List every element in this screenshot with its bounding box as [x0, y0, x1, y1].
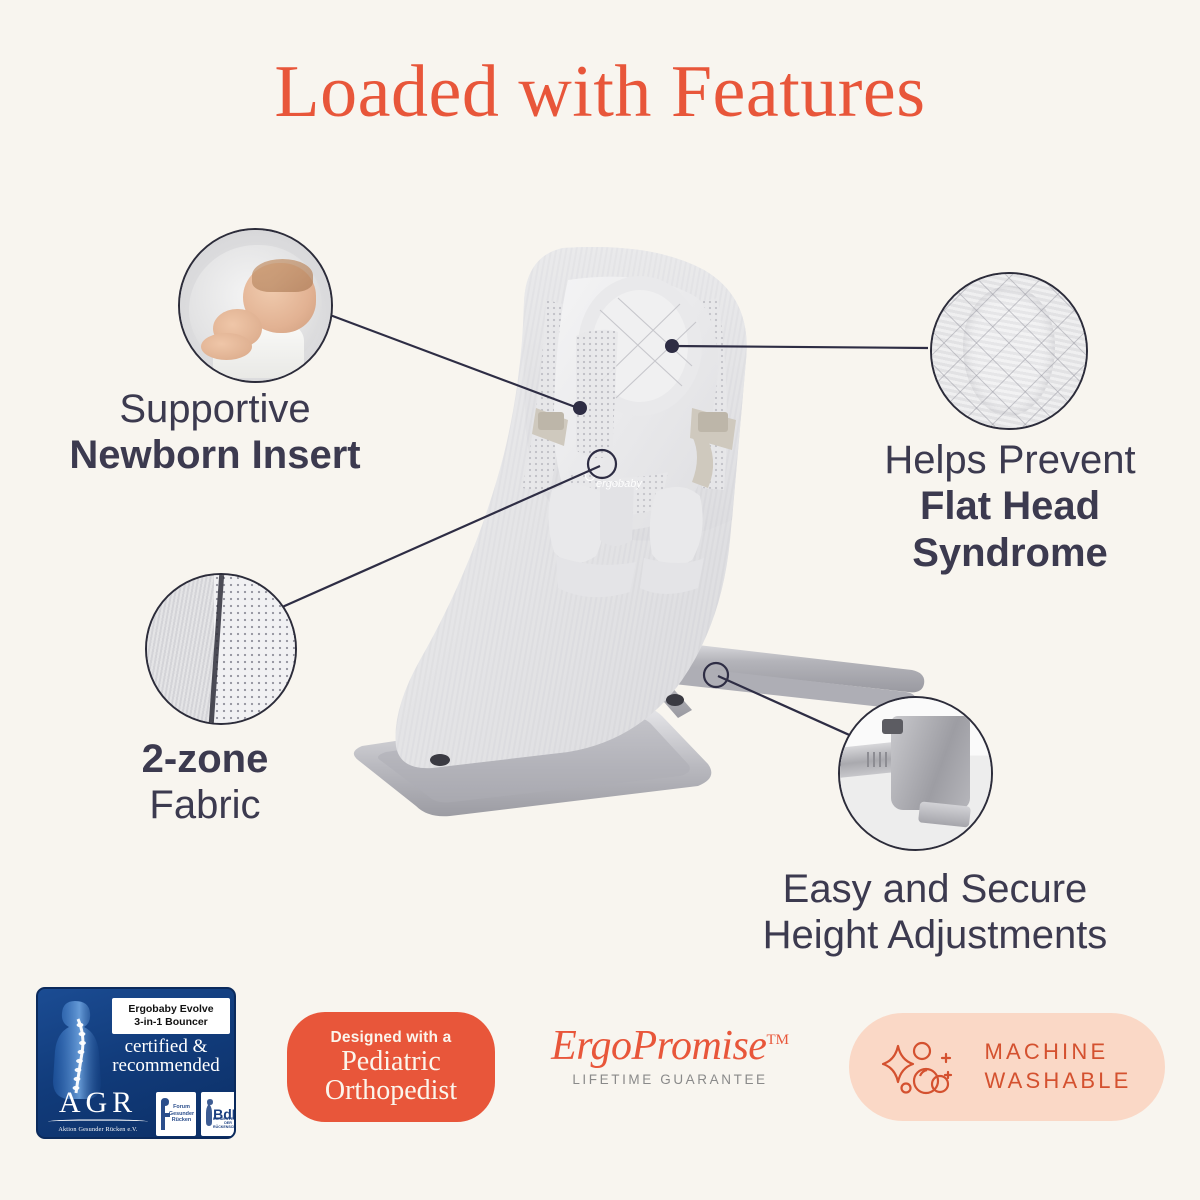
adjuster-release-tab	[882, 719, 903, 734]
agr-cert-line-2: recommended	[96, 1056, 236, 1075]
agr-logo-swoosh-icon	[48, 1119, 148, 1123]
feature-label-newborn-insert: Supportive Newborn Insert	[0, 386, 430, 479]
sparkle-bubbles-icon	[882, 1036, 968, 1098]
agr-logo-subtitle: Aktion Gesunder Rücken e.V.	[44, 1126, 152, 1133]
ergopromise-wordmark: ErgoPromise	[551, 1023, 766, 1069]
agr-cert-line-1: certified &	[96, 1037, 236, 1056]
page-title: Loaded with Features	[0, 55, 1200, 129]
badge-ergopromise: ErgoPromiseTM LIFETIME GUARANTEE	[530, 1025, 810, 1087]
badge-pediatric-orthopedist: Designed with a Pediatric Orthopedist	[287, 1012, 495, 1122]
baby-hair	[252, 259, 312, 292]
jersey-knit-zone	[147, 575, 217, 723]
certification-badges-row: Ergobaby Evolve 3-in-1 Bouncer certified…	[0, 985, 1200, 1155]
pediatric-badge-line-2: Orthopedist	[325, 1077, 457, 1106]
agr-product-line-2: 3-in-1 Bouncer	[134, 1016, 208, 1029]
forum-figure-icon	[159, 1097, 172, 1131]
feature-label-line-1: 2-zone	[15, 736, 395, 782]
feature-label-line-2: Height Adjustments	[700, 912, 1170, 958]
callout-quilted-insert	[930, 272, 1088, 430]
feature-label-line-3: Syndrome	[840, 530, 1180, 576]
frame-notches	[867, 752, 891, 767]
product-brand-mark: ergobaby	[596, 478, 643, 490]
agr-logo: AGR Aktion Gesunder Rücken e.V.	[44, 1089, 152, 1133]
callout-baby-in-newborn-insert	[178, 228, 333, 383]
pediatric-badge-line-1: Pediatric	[341, 1048, 441, 1077]
callout-height-adjuster	[838, 696, 993, 851]
feature-label-two-zone-fabric: 2-zone Fabric	[15, 736, 395, 829]
feature-label-line-2: Flat Head	[840, 483, 1180, 529]
agr-sublogo-bdr: BdR BUNDESVERBAND DER RÜCKENSCHULLEHRER	[201, 1092, 236, 1136]
feature-label-line-2: Newborn Insert	[0, 432, 430, 478]
badge-machine-washable: MACHINE WASHABLE	[849, 1013, 1165, 1121]
infographic-canvas: Loaded with Features	[0, 0, 1200, 1200]
callout-two-zone-fabric	[145, 573, 297, 725]
adjuster-block	[891, 716, 970, 810]
pediatric-badge-top-line: Designed with a	[331, 1029, 452, 1047]
feature-label-line-1: Easy and Secure	[700, 866, 1170, 912]
machine-washable-line-1: MACHINE	[984, 1038, 1131, 1067]
agr-logo-text: AGR	[44, 1089, 152, 1118]
baby-arm-lower	[201, 333, 252, 360]
quilt-stitch-lines	[932, 274, 1086, 428]
agr-certified-text: certified & recommended	[96, 1037, 236, 1076]
agr-product-name: Ergobaby Evolve 3-in-1 Bouncer	[112, 998, 230, 1034]
feature-label-flat-head: Helps Prevent Flat Head Syndrome	[840, 437, 1180, 576]
feature-label-line-2: Fabric	[15, 782, 395, 828]
agr-sublogo-forum: Forum Gesunder Rücken	[156, 1092, 196, 1136]
machine-washable-line-2: WASHABLE	[984, 1067, 1131, 1096]
machine-washable-text: MACHINE WASHABLE	[984, 1038, 1131, 1095]
ergopromise-subtitle: LIFETIME GUARANTEE	[530, 1072, 810, 1087]
ergopromise-wordmark-row: ErgoPromiseTM	[530, 1025, 810, 1067]
agr-product-line-1: Ergobaby Evolve	[128, 1003, 213, 1016]
feature-label-line-1: Helps Prevent	[840, 437, 1180, 483]
ergopromise-tm-mark: TM	[766, 1032, 789, 1048]
mesh-zone	[214, 575, 295, 723]
badge-agr-certified: Ergobaby Evolve 3-in-1 Bouncer certified…	[36, 987, 236, 1139]
bdr-sublogo-subtitle: BUNDESVERBAND DER RÜCKENSCHULLEHRER	[213, 1118, 236, 1130]
feature-label-line-1: Supportive	[0, 386, 430, 432]
feature-label-height-adjustments: Easy and Secure Height Adjustments	[700, 866, 1170, 959]
